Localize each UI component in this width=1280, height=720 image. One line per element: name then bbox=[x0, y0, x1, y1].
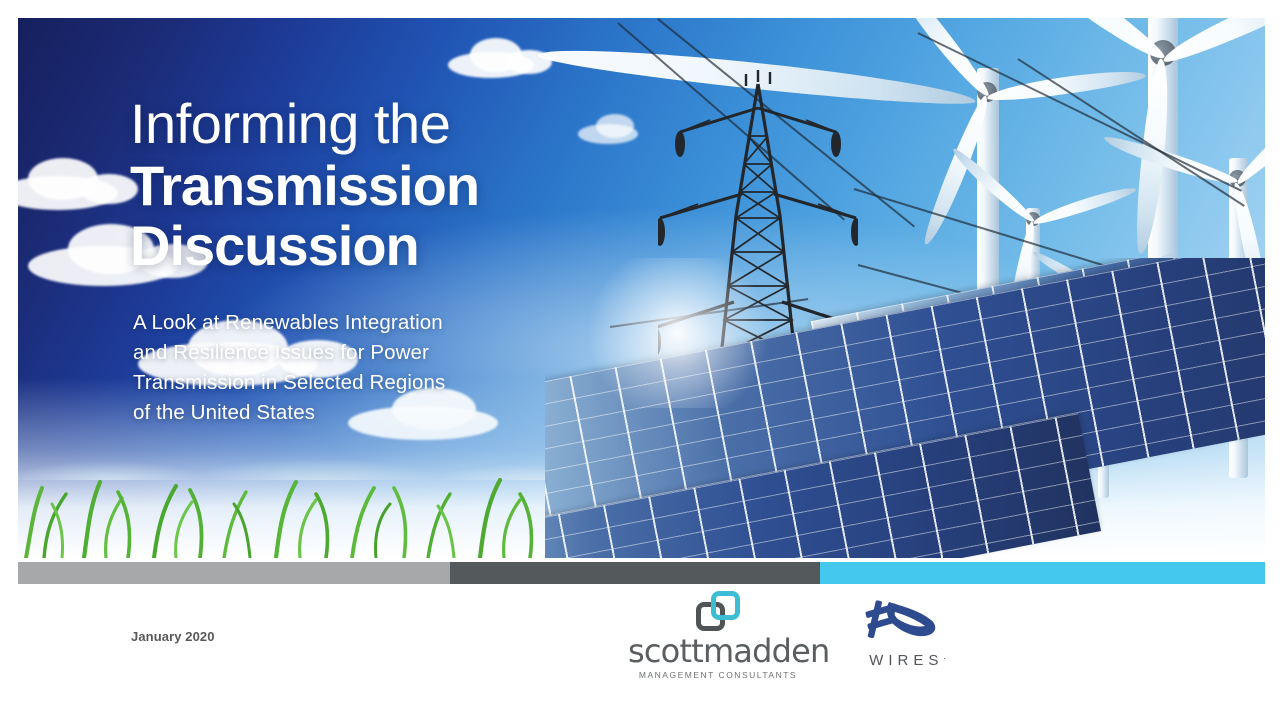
scottmadden-logo: scottmadden MANAGEMENT CONSULTANTS bbox=[628, 590, 808, 680]
wires-leaf-icon bbox=[845, 596, 965, 644]
title-slide: Informing the Transmission Discussion A … bbox=[0, 0, 1280, 720]
accent-bar-dark bbox=[450, 562, 820, 584]
scottmadden-wordmark: scottmadden bbox=[628, 635, 808, 667]
accent-bar-light bbox=[18, 562, 450, 584]
date-label: January 2020 bbox=[131, 629, 215, 644]
wires-wordmark: WIRES. bbox=[845, 651, 965, 669]
subtitle-line-1: A Look at Renewables Integration bbox=[133, 308, 513, 338]
title-line-2: Transmission bbox=[130, 156, 560, 216]
title-line-3: Discussion bbox=[130, 216, 560, 276]
subtitle-line-3: Transmission in Selected Regions bbox=[133, 368, 513, 398]
subtitle-line-4: of the United States bbox=[133, 398, 513, 428]
interlocking-rounded-squares-icon bbox=[692, 590, 744, 632]
solar-panel-array bbox=[545, 258, 1265, 558]
wires-logo: WIRES. bbox=[845, 596, 965, 669]
subtitle: A Look at Renewables Integration and Res… bbox=[133, 308, 513, 429]
subtitle-line-2: and Resilience Issues for Power bbox=[133, 338, 513, 368]
title-line-1: Informing the bbox=[130, 96, 560, 152]
page-title: Informing the Transmission Discussion bbox=[130, 96, 560, 276]
accent-bar-cyan bbox=[820, 562, 1265, 584]
scottmadden-tagline: MANAGEMENT CONSULTANTS bbox=[628, 670, 808, 680]
